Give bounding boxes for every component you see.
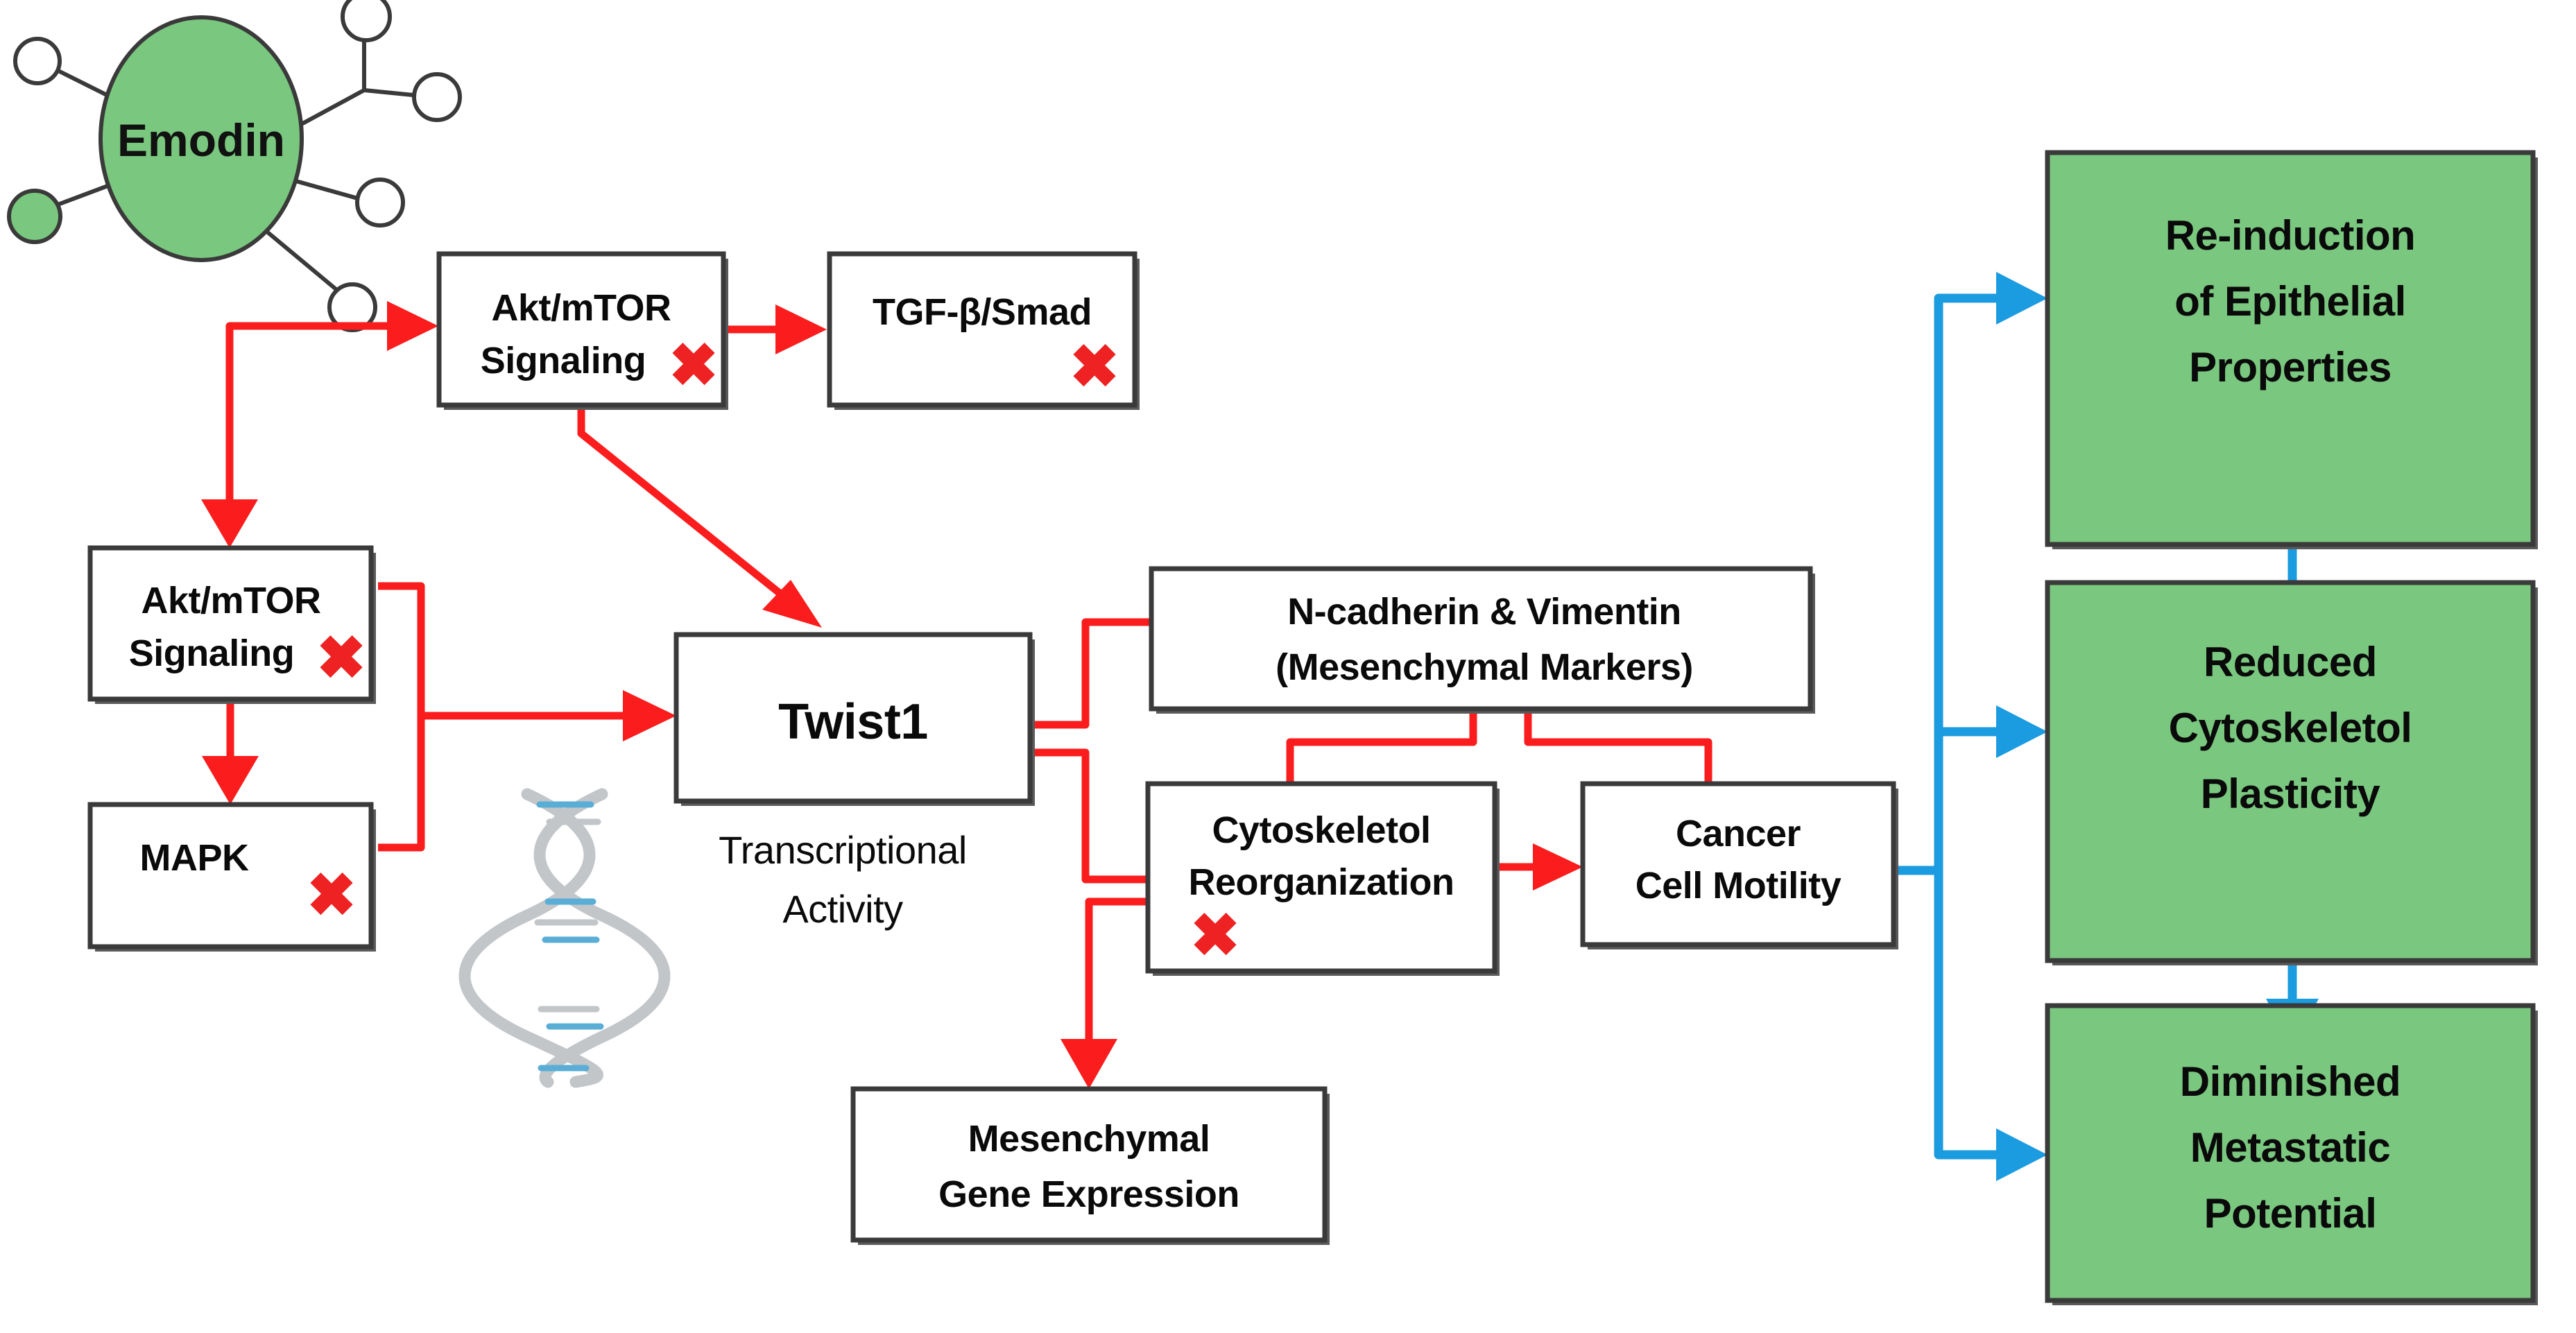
node-label-line1: Akt/mTOR <box>491 287 671 329</box>
node-label-line1: Cytoskeletol <box>1212 809 1430 851</box>
left-merge-bracket <box>378 586 421 848</box>
node-tgf-beta-smad[interactable]: TGF-β/Smad ✖ <box>830 254 1140 410</box>
outcome-label-line2: Cytoskeletol <box>2169 705 2412 751</box>
red-arrow-head-to-motility <box>1533 843 1583 891</box>
outcome-label-line3: Properties <box>2189 344 2392 390</box>
outcome-label-line1: Reduced <box>2204 639 2377 685</box>
molecule-satellite-circle <box>343 0 390 40</box>
node-label-line1: Cancer <box>1676 813 1801 854</box>
inhibition-x-icon: ✖ <box>1190 902 1240 969</box>
node-label-twist1: Twist1 <box>778 694 928 750</box>
blue-arrow-head-outcome-1 <box>1996 272 2047 325</box>
molecule-satellite-circle <box>414 74 460 120</box>
node-label-line2: Cell Motility <box>1635 865 1841 906</box>
node-akt-mtor-top[interactable]: Akt/mTOR Signaling ✖ <box>439 254 728 410</box>
red-arrow-head-to-akt-left <box>201 499 258 548</box>
outcome-label-line2: of Epithelial <box>2174 278 2406 325</box>
node-twist1[interactable]: Twist1 Transcriptional Activity <box>676 635 1035 931</box>
motility-to-outcome1-connector <box>1894 298 2003 870</box>
red-arrow-head-to-genes <box>1061 1039 1117 1089</box>
red-arrow-head-to-tgf <box>775 304 827 354</box>
node-label-line1: N-cadherin & Vimentin <box>1287 591 1681 633</box>
molecule-satellite-circle-green <box>9 191 60 242</box>
molecule-satellite-circle <box>357 180 403 225</box>
blue-arrow-head-outcome-3 <box>1996 1128 2047 1181</box>
molecule-satellite-circle <box>15 39 60 83</box>
cytoskeleton-to-genes-connector <box>1089 902 1148 1044</box>
inhibition-x-icon: ✖ <box>1070 334 1119 400</box>
inhibition-x-icon: ✖ <box>307 862 357 929</box>
node-mesenchymal-markers[interactable]: N-cadherin & Vimentin (Mesenchymal Marke… <box>1151 569 1815 714</box>
outcome-label-line1: Re-induction <box>2165 212 2416 259</box>
outcome-box-re-induction-of-epithelial-properties[interactable]: Re-induction of Epithelial Properties <box>2047 153 2538 549</box>
outcome-box-reduced-cytoskeletol-plasticity[interactable]: Reduced Cytoskeletol Plasticity <box>2047 583 2538 965</box>
molecule-bond <box>264 229 347 298</box>
node-mesenchymal-gene-expression[interactable]: Mesenchymal Gene Expression <box>853 1089 1330 1245</box>
markers-to-cytoskeleton-connector <box>1290 709 1473 784</box>
emodin-molecule-group: Emodin <box>9 0 460 330</box>
motility-to-outcome3-connector <box>1939 870 2003 1155</box>
node-akt-mtor-left[interactable]: Akt/mTOR Signaling ✖ <box>90 548 376 704</box>
node-cancer-cell-motility[interactable]: Cancer Cell Motility <box>1583 784 1898 949</box>
blue-arrow-head-outcome-2 <box>1996 705 2047 758</box>
node-label-line2: Signaling <box>129 633 295 674</box>
node-label-line2: Gene Expression <box>938 1173 1239 1215</box>
emodin-split-connector <box>230 326 392 527</box>
node-label-line2: Signaling <box>481 340 646 381</box>
markers-to-motility-connector <box>1528 709 1708 784</box>
akt-top-to-twist1-connector <box>581 406 784 596</box>
red-arrow-head-to-twist1 <box>623 690 676 741</box>
outcome-label-line3: Plasticity <box>2201 771 2381 817</box>
inhibition-x-icon: ✖ <box>669 332 719 399</box>
red-arrow-head-to-akt-top <box>387 301 438 351</box>
node-label-line1: Akt/mTOR <box>141 580 320 621</box>
emodin-label: Emodin <box>117 114 285 166</box>
emodin-emt-pathway-diagram: Emodin <box>0 0 2576 1333</box>
node-cytoskeleton-reorganization[interactable]: Cytoskeletol Reorganization ✖ <box>1148 784 1500 976</box>
outcome-box-diminished-metastatic-potential[interactable]: Diminished Metastatic Potential <box>2047 1006 2538 1305</box>
outcome-label-line3: Potential <box>2204 1190 2377 1237</box>
twist1-caption-line1: Transcriptional <box>719 828 967 872</box>
node-mapk[interactable]: MAPK ✖ <box>90 805 376 952</box>
node-label-line1: TGF-β/Smad <box>873 291 1092 333</box>
twist1-to-markers-connector <box>1031 622 1151 725</box>
molecule-bond <box>364 90 420 96</box>
node-label-line2: Reorganization <box>1188 861 1454 903</box>
outcome-label-line2: Metastatic <box>2190 1124 2390 1171</box>
node-label-line2: (Mesenchymal Markers) <box>1276 646 1693 688</box>
node-label-line1: MAPK <box>140 837 249 879</box>
inhibition-x-icon: ✖ <box>316 625 366 691</box>
red-arrow-head-to-mapk <box>202 756 259 805</box>
dna-helix-icon <box>465 794 664 1082</box>
outcome-label-line1: Diminished <box>2180 1058 2401 1105</box>
node-label-line1: Mesenchymal <box>968 1118 1210 1160</box>
twist1-to-cytoskeleton-connector <box>1031 752 1148 879</box>
twist1-caption-line2: Activity <box>782 887 903 931</box>
